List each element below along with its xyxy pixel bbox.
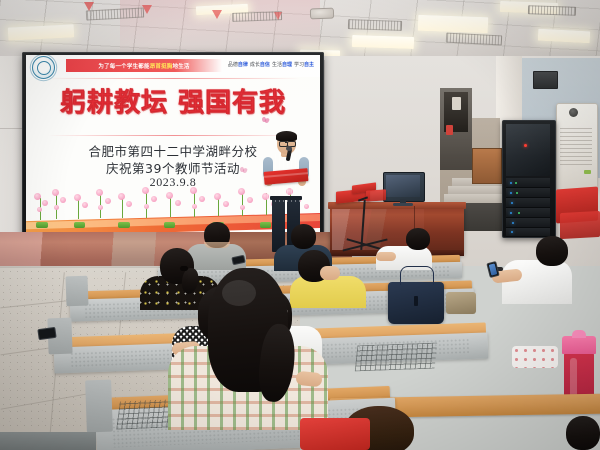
air-conditioner-dial <box>569 108 578 117</box>
ceiling-marker-tag <box>212 10 222 19</box>
ceiling-light-panel <box>418 15 489 33</box>
rack-unit <box>506 188 550 198</box>
presenter-hair <box>276 131 297 141</box>
ceiling-speaker <box>310 8 334 20</box>
air-conditioner-grill <box>560 128 592 166</box>
butterfly-decoration <box>262 117 270 123</box>
ceiling-air-vent <box>348 19 402 31</box>
motto-item: 品德自律 <box>228 63 248 68</box>
red-item-on-desk <box>300 418 370 450</box>
attendee-pink-floral-sleeve <box>512 346 558 368</box>
rack-unit <box>506 208 550 218</box>
ceiling-marker-tag <box>142 5 152 14</box>
stacked-red-chairs <box>560 211 600 239</box>
attendee-head <box>406 228 430 250</box>
wall-seam <box>324 60 325 236</box>
seat-end-panel <box>65 276 88 307</box>
ceiling-marker-tag <box>274 12 282 20</box>
slogan-text: 为了每一个学生都能昂首挺胸地生活 <box>66 59 222 72</box>
slide-divider <box>48 78 300 79</box>
tan-pouch <box>446 292 476 314</box>
rack-unit <box>506 198 550 208</box>
air-conditioner-indicator <box>584 170 591 174</box>
presenter-belt <box>270 196 302 200</box>
rack-power-led <box>524 144 527 147</box>
door-red-sign <box>446 125 453 135</box>
presenter-glasses-bridge <box>285 142 288 143</box>
attendee-torso <box>502 260 572 304</box>
motto-item: 生活自理 <box>272 63 292 68</box>
attendee-right-edge <box>566 416 600 450</box>
ceiling-air-vent <box>528 5 576 16</box>
ceiling-light-panel <box>352 35 414 49</box>
attendee-hand <box>295 371 322 388</box>
rack-unit <box>506 178 550 188</box>
wall-speaker <box>533 71 558 89</box>
seat-end-panel <box>85 380 113 433</box>
slogan-red-bar: 为了每一个学生都能昂首挺胸地生活 <box>66 59 222 72</box>
ceiling-marker-tag <box>84 2 94 11</box>
school-emblem-glyph: ጗ <box>37 61 51 75</box>
door-notice-sheet <box>452 97 461 110</box>
under-desk-basket <box>355 343 438 372</box>
attendee-phone-user-right <box>492 236 572 304</box>
rack-unit <box>506 218 550 228</box>
handbag-zip <box>414 296 418 306</box>
water-bottle-handle <box>572 330 586 338</box>
attendee-arm <box>376 252 396 261</box>
podium-red-box <box>366 189 386 201</box>
attendee-white-shirt-right <box>376 228 432 268</box>
handbag-handle <box>400 266 434 285</box>
school-emblem: ጗ <box>32 56 55 79</box>
water-bottle-cap <box>562 336 596 354</box>
slide-header-band: 为了每一个学生都能昂首挺胸地生活 ጗ 品德自律 成长自信 生活自理 学习自主 <box>26 55 320 77</box>
podium-monitor-screen <box>386 175 420 197</box>
attendee-head <box>536 236 568 266</box>
rack-glass-door <box>506 124 550 176</box>
slide-main-title: 躬耕教坛 强国有我 <box>26 82 320 119</box>
hair-highlight <box>222 280 256 306</box>
attendee-head <box>291 224 316 249</box>
auditorium-photo: 为了每一个学生都能昂首挺胸地生活 ጗ 品德自律 成长自信 生活自理 学习自主 躬… <box>0 0 600 450</box>
motto-item: 成长自信 <box>250 63 270 68</box>
school-motto: 品德自律 成长自信 生活自理 学习自主 <box>228 59 314 71</box>
attendee-head <box>566 416 600 450</box>
wooden-cabinet <box>472 148 502 184</box>
foreground-seat-edge <box>0 432 96 450</box>
butterfly-decoration <box>240 167 248 173</box>
microphone-head <box>286 146 292 151</box>
motto-item: 学习自主 <box>294 63 314 68</box>
podium-monitor-base <box>393 203 413 206</box>
attendee-plaid-long-hair <box>168 268 328 428</box>
